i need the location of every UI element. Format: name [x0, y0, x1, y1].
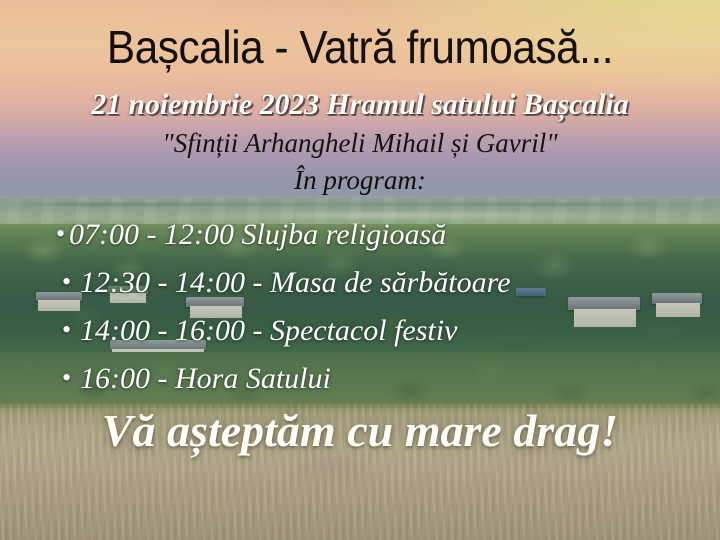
poster-title: Bașcalia - Vatră frumoasă... — [29, 20, 691, 74]
agenda-item-text: 14:00 - 16:00 - Spectacol festiv — [80, 314, 457, 347]
program-heading: În program: — [0, 165, 720, 196]
agenda-item-text: 12:30 - 14:00 - Masa de sărbătoare — [80, 266, 511, 299]
closing-invitation: Vă așteptăm cu mare drag! — [0, 404, 720, 457]
event-poster: Bașcalia - Vatră frumoasă... 21 noiembri… — [0, 0, 720, 540]
bullet-icon: • — [62, 354, 80, 401]
agenda-item-text: 07:00 - 12:00 Slujba religioasă — [69, 218, 446, 251]
bullet-icon: • — [62, 258, 80, 305]
agenda-item: •16:00 - Hora Satului — [0, 354, 720, 402]
patron-saints-line: "Sfinții Arhangheli Mihail și Gavril" — [0, 128, 720, 159]
agenda-item: •14:00 - 16:00 - Spectacol festiv — [0, 306, 720, 354]
agenda-item-text: 16:00 - Hora Satului — [80, 362, 331, 395]
agenda-item: •07:00 - 12:00 Slujba religioasă — [0, 210, 720, 258]
agenda-item: •12:30 - 14:00 - Masa de sărbătoare — [0, 258, 720, 306]
bullet-icon: • — [56, 210, 69, 257]
program-agenda-list: •07:00 - 12:00 Slujba religioasă •12:30 … — [0, 210, 720, 402]
poster-text-layer: Bașcalia - Vatră frumoasă... 21 noiembri… — [0, 0, 720, 540]
event-dateline: 21 noiembrie 2023 Hramul satului Bașcali… — [4, 88, 717, 122]
bullet-icon: • — [62, 306, 80, 353]
